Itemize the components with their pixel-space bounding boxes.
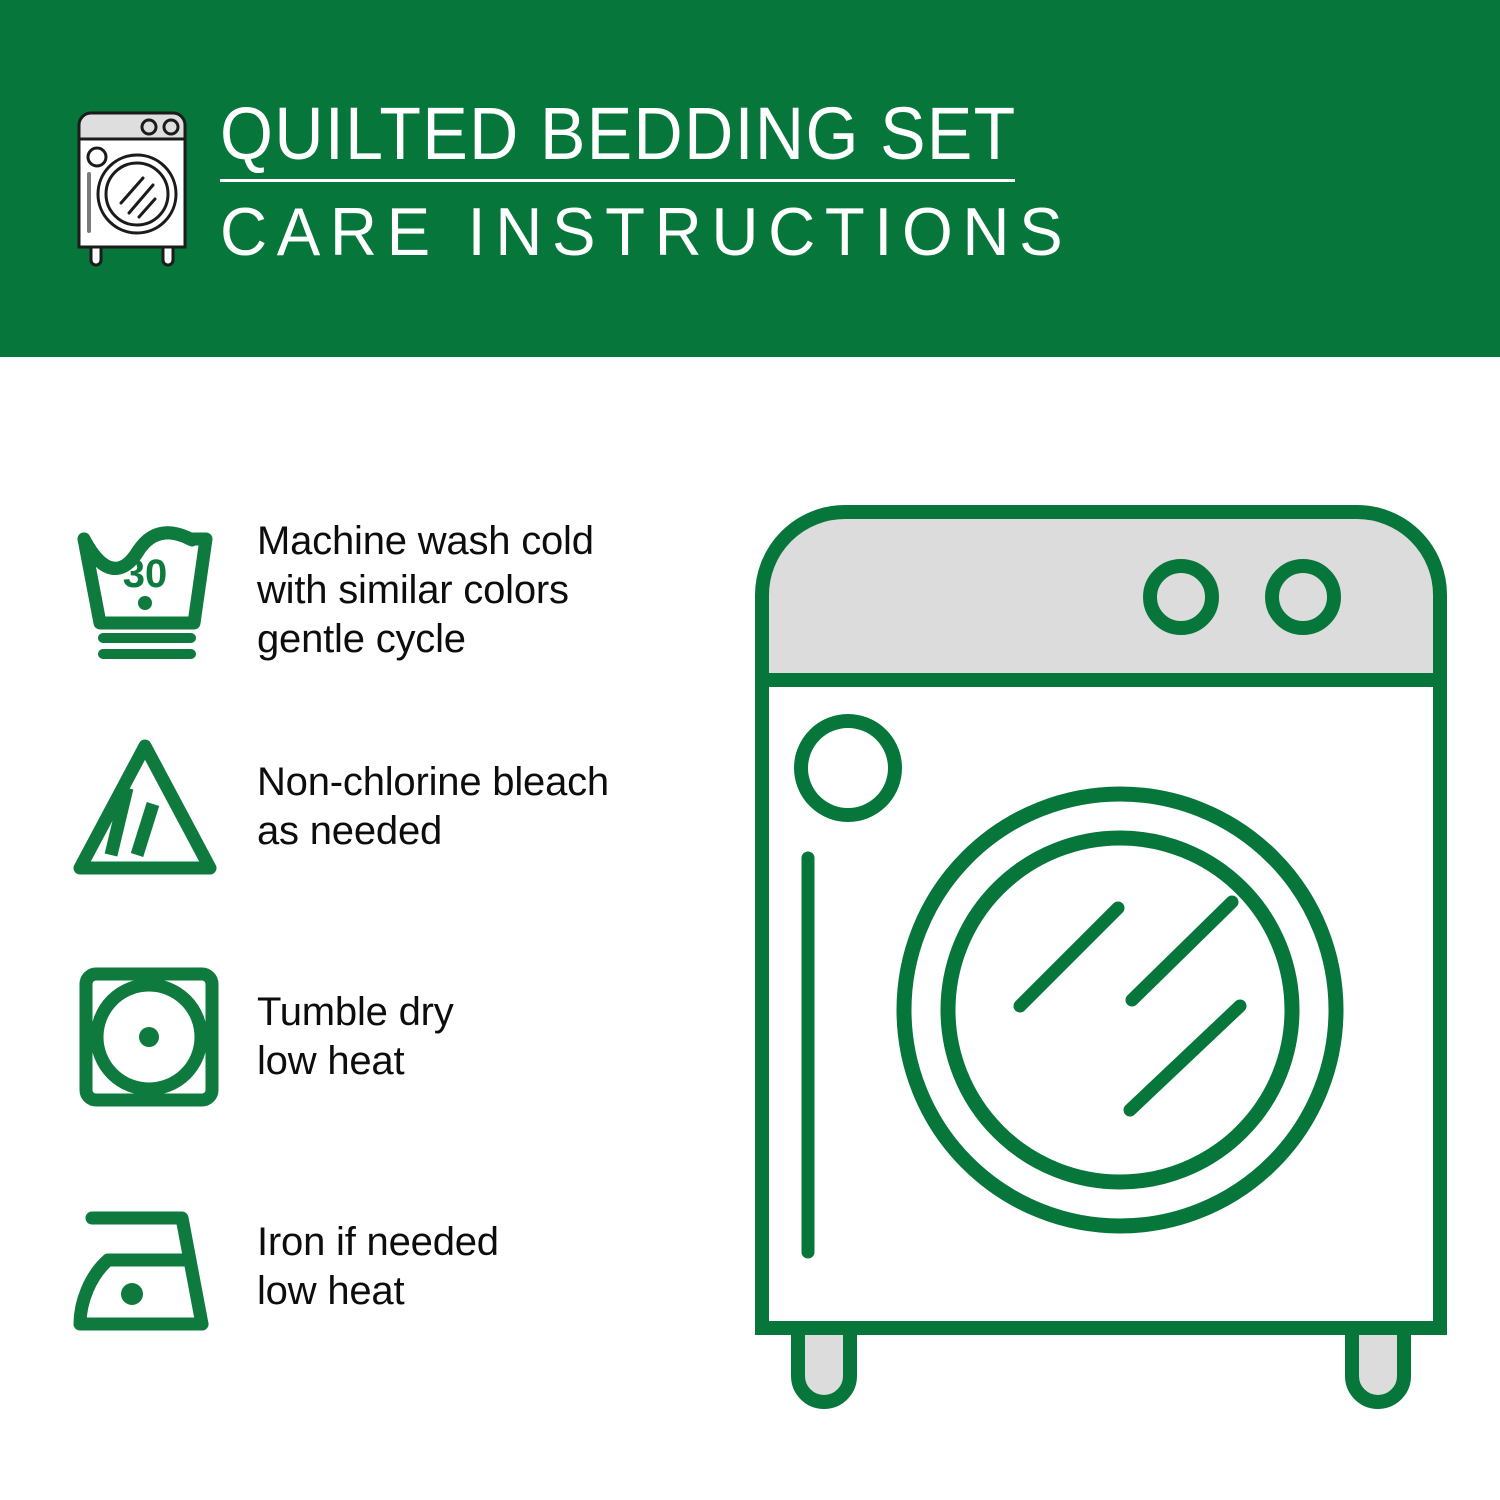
care-text-bleach: Non-chlorine bleach as needed xyxy=(257,758,609,856)
triangle-non-chlorine-bleach-icon xyxy=(70,732,235,882)
tumble-dry-low-icon xyxy=(70,962,235,1112)
care-line: Iron if needed xyxy=(257,1218,499,1267)
care-line: as needed xyxy=(257,807,609,856)
care-line: low heat xyxy=(257,1267,499,1316)
washing-machine-icon xyxy=(65,103,210,268)
header-band: QUILTED BEDDING SET CARE INSTRUCTIONS xyxy=(0,0,1500,357)
washing-machine-illustration xyxy=(740,490,1480,1420)
care-text-tumble-dry: Tumble dry low heat xyxy=(257,988,454,1086)
page-subtitle: CARE INSTRUCTIONS xyxy=(220,196,1046,268)
care-line: gentle cycle xyxy=(257,615,594,664)
care-line: Machine wash cold xyxy=(257,517,594,566)
iron-low-heat-icon xyxy=(70,1192,235,1342)
leg-right xyxy=(1352,1328,1404,1402)
care-instructions-page: QUILTED BEDDING SET CARE INSTRUCTIONS xyxy=(0,0,1500,1500)
care-row-iron: Iron if needed low heat xyxy=(70,1192,710,1342)
care-row-tumble-dry: Tumble dry low heat xyxy=(70,962,710,1112)
leg-left xyxy=(798,1328,850,1402)
care-line: with similar colors xyxy=(257,566,594,615)
care-instruction-list: 30 Machine wash cold with similar colors… xyxy=(0,357,720,1500)
care-text-machine-wash: Machine wash cold with similar colors ge… xyxy=(257,517,594,664)
page-title: QUILTED BEDDING SET xyxy=(220,95,1011,173)
header-titles: QUILTED BEDDING SET CARE INSTRUCTIONS xyxy=(220,95,1080,268)
care-row-machine-wash: 30 Machine wash cold with similar colors… xyxy=(70,515,710,665)
title-divider xyxy=(220,179,1015,182)
care-line: low heat xyxy=(257,1037,454,1086)
care-text-iron: Iron if needed low heat xyxy=(257,1218,499,1316)
care-line: Non-chlorine bleach xyxy=(257,758,609,807)
care-line: Tumble dry xyxy=(257,988,454,1037)
wash-temperature-value: 30 xyxy=(123,552,168,596)
header-content: QUILTED BEDDING SET CARE INSTRUCTIONS xyxy=(60,95,1060,275)
care-row-bleach: Non-chlorine bleach as needed xyxy=(70,732,710,882)
wash-tub-30-gentle-icon: 30 xyxy=(70,515,235,665)
